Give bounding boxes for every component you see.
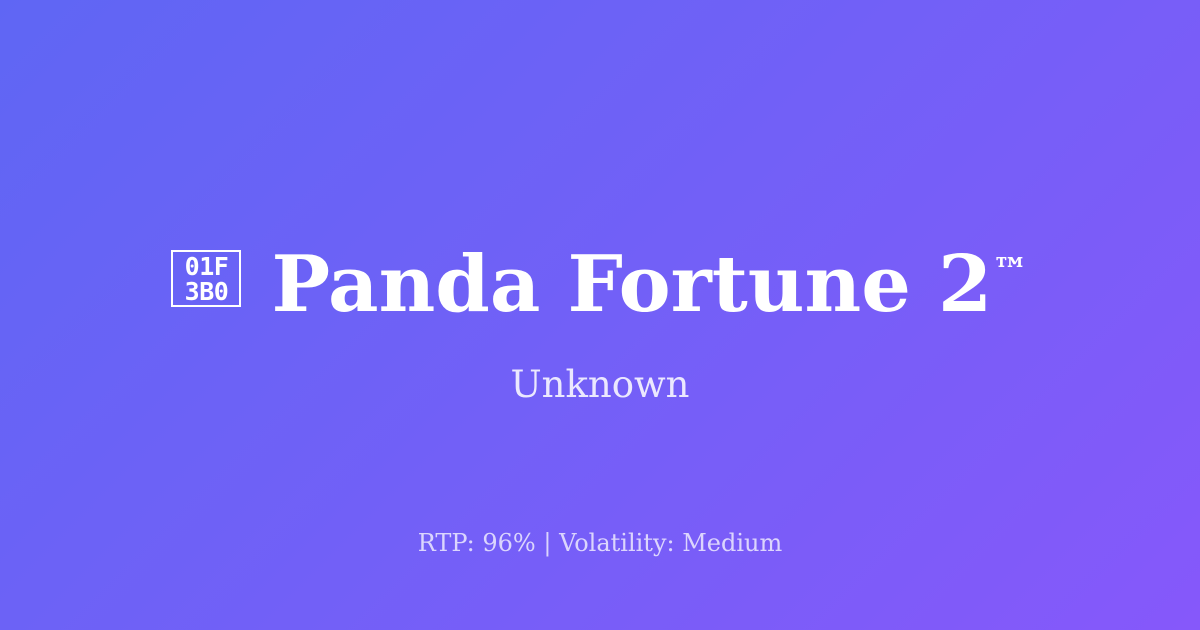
- tofu-codepoint-top: 01F: [185, 254, 229, 279]
- provider-subtitle: Unknown: [0, 362, 1200, 408]
- tofu-codepoint-bottom: 3B0: [185, 279, 229, 304]
- page-title: Panda Fortune 2™: [271, 228, 1028, 328]
- slot-machine-icon: 01F 3B0: [171, 250, 241, 307]
- title-row: 01F 3B0 Panda Fortune 2™: [0, 228, 1200, 328]
- game-stats-line: RTP: 96% | Volatility: Medium: [0, 528, 1200, 559]
- trademark-symbol: ™: [992, 250, 1028, 292]
- game-title-text: Panda Fortune 2: [271, 239, 992, 330]
- og-card: 01F 3B0 Panda Fortune 2™ Unknown RTP: 96…: [0, 0, 1200, 630]
